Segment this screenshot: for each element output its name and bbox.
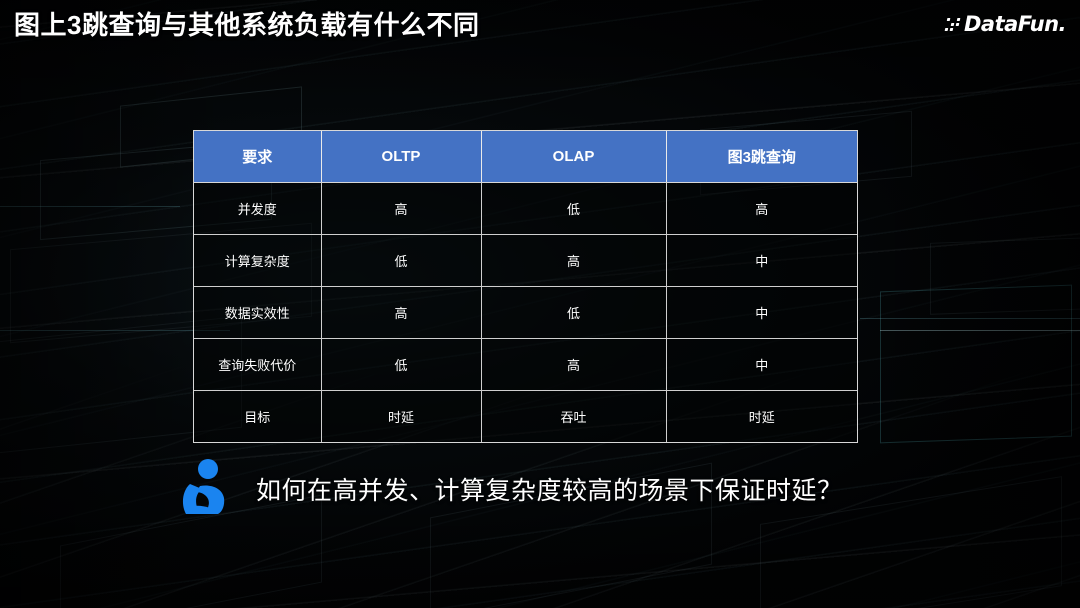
row-label: 目标	[194, 391, 321, 443]
row-label: 查询失败代价	[194, 339, 321, 391]
page-title: 图上3跳查询与其他系统负载有什么不同	[14, 6, 479, 44]
cell-olap: 吞吐	[481, 391, 666, 443]
table-row: 查询失败代价 低 高 中	[194, 339, 857, 391]
cell-olap: 低	[481, 287, 666, 339]
row-label: 数据实效性	[194, 287, 321, 339]
row-label: 计算复杂度	[194, 235, 321, 287]
table-header-row: 要求 OLTP OLAP 图3跳查询	[194, 131, 857, 183]
table-row: 目标 时延 吞吐 时延	[194, 391, 857, 443]
logo-text: DataFun.	[964, 12, 1066, 36]
cell-graph3hop: 中	[666, 235, 857, 287]
cell-olap: 低	[481, 183, 666, 235]
cell-graph3hop: 中	[666, 287, 857, 339]
question-callout: 如何在高并发、计算复杂度较高的场景下保证时延？	[178, 458, 843, 520]
column-header-requirement: 要求	[194, 131, 321, 183]
datafun-dots-icon	[945, 18, 961, 31]
cell-graph3hop: 中	[666, 339, 857, 391]
cell-oltp: 低	[321, 235, 481, 287]
cell-graph3hop: 时延	[666, 391, 857, 443]
table-row: 并发度 高 低 高	[194, 183, 857, 235]
cell-oltp: 低	[321, 339, 481, 391]
row-label: 并发度	[194, 183, 321, 235]
column-header-olap: OLAP	[481, 131, 666, 183]
column-header-oltp: OLTP	[321, 131, 481, 183]
comparison-table: 要求 OLTP OLAP 图3跳查询 并发度 高 低 高 计算复杂度 低 高 中	[193, 130, 858, 443]
question-text: 如何在高并发、计算复杂度较高的场景下保证时延？	[256, 471, 843, 507]
cell-olap: 高	[481, 235, 666, 287]
datafun-logo: DataFun.	[946, 11, 1066, 37]
table-row: 计算复杂度 低 高 中	[194, 235, 857, 287]
cell-oltp: 高	[321, 287, 481, 339]
cell-graph3hop: 高	[666, 183, 857, 235]
column-header-graph3hop: 图3跳查询	[666, 131, 857, 183]
slide-canvas: 图上3跳查询与其他系统负载有什么不同 DataFun. 要求 OLTP OLAP…	[0, 0, 1080, 608]
cell-oltp: 高	[321, 183, 481, 235]
table-row: 数据实效性 高 低 中	[194, 287, 857, 339]
thinking-person-icon	[178, 458, 230, 520]
cell-olap: 高	[481, 339, 666, 391]
cell-oltp: 时延	[321, 391, 481, 443]
